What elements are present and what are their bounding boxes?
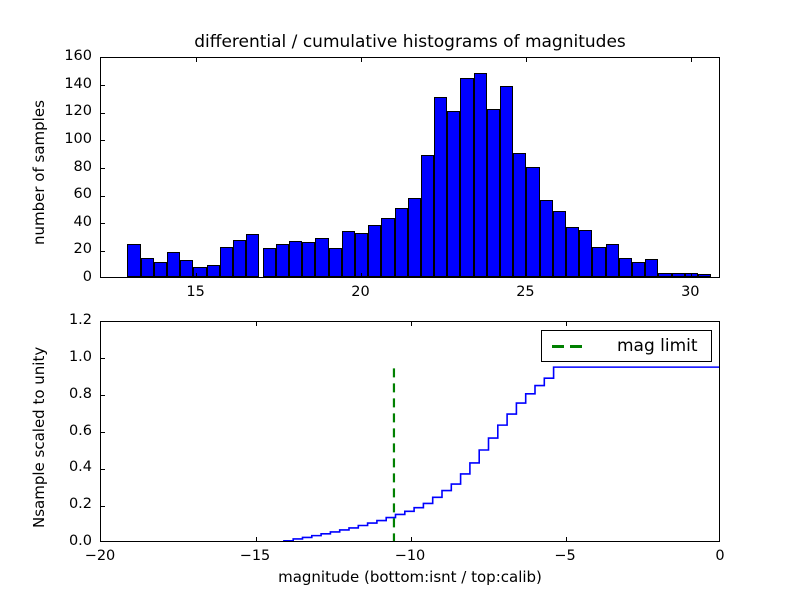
histogram-bar (645, 259, 658, 277)
histogram-bar (180, 260, 193, 277)
histogram-bar (434, 97, 447, 277)
ytick-label: 80 (4, 159, 92, 175)
histogram-bar (246, 234, 259, 277)
cumulative-line (101, 367, 719, 541)
xtick-mark (256, 322, 257, 326)
xtick-mark (411, 537, 412, 541)
xtick-mark (361, 58, 362, 62)
histogram-bar (263, 248, 276, 277)
ytick-label: 0.0 (4, 533, 92, 549)
top-histogram-axes (100, 57, 720, 278)
histogram-bar (167, 252, 180, 277)
histogram-bar (220, 247, 233, 277)
ytick-label: 120 (4, 103, 92, 119)
ytick-mark (101, 358, 105, 359)
histogram-bar (127, 244, 140, 277)
histogram-bar (381, 218, 394, 277)
ytick-label: 0.6 (4, 423, 92, 439)
histogram-bar (276, 244, 289, 277)
ytick-label: 40 (4, 214, 92, 230)
histogram-bar (355, 233, 368, 277)
histogram-bar (553, 211, 566, 277)
histogram-bar (513, 153, 526, 277)
xtick-mark (526, 273, 527, 277)
histogram-bar (487, 109, 500, 278)
histogram-bar (540, 200, 553, 277)
ytick-mark (101, 113, 105, 114)
xtick-mark (256, 537, 257, 541)
ytick-label: 20 (4, 241, 92, 257)
ytick-mark (101, 168, 105, 169)
xtick-mark (566, 322, 567, 326)
ytick-label: 0.4 (4, 459, 92, 475)
histogram-plot-area (101, 58, 719, 277)
histogram-bar (579, 230, 592, 277)
histogram-bar (592, 247, 605, 277)
histogram-bar (632, 262, 645, 277)
figure-canvas: differential / cumulative histograms of … (0, 0, 800, 600)
histogram-bar (302, 242, 315, 277)
histogram-bar (207, 265, 220, 277)
xtick-mark (691, 58, 692, 62)
ytick-mark (101, 432, 105, 433)
histogram-bar (421, 155, 434, 277)
histogram-bar (566, 227, 579, 277)
ytick-mark (101, 395, 105, 396)
xtick-label: 15 (156, 284, 236, 300)
histogram-bar (606, 244, 619, 277)
histogram-bar (329, 248, 342, 277)
figure-xlabel: magnitude (bottom:isnt / top:calib) (100, 568, 720, 586)
xtick-mark (196, 58, 197, 62)
histogram-bar (447, 111, 460, 277)
ytick-mark (101, 223, 105, 224)
xtick-mark (411, 322, 412, 326)
ytick-mark (101, 140, 105, 141)
ytick-mark (101, 469, 105, 470)
histogram-bar (658, 273, 671, 277)
xtick-label: 0 (680, 548, 760, 564)
histogram-bar (342, 231, 355, 277)
histogram-bar (698, 274, 711, 277)
xtick-label: −10 (370, 548, 450, 564)
histogram-bar (233, 240, 246, 277)
histogram-bar (289, 241, 302, 277)
histogram-bar (672, 273, 685, 277)
xtick-label: 30 (650, 284, 730, 300)
xtick-mark (196, 273, 197, 277)
histogram-bar (408, 198, 421, 277)
histogram-bar (395, 208, 408, 277)
ytick-mark (101, 506, 105, 507)
xtick-label: −5 (525, 548, 605, 564)
xtick-mark (526, 58, 527, 62)
mag-limit-dashed-line-icon (551, 339, 591, 353)
histogram-bar (460, 78, 473, 277)
legend-label-mag-limit: mag limit (617, 336, 702, 356)
xtick-mark (361, 273, 362, 277)
histogram-bar (141, 258, 154, 277)
legend: mag limit (541, 330, 712, 362)
ytick-label: 0 (4, 269, 92, 285)
ytick-label: 1.0 (4, 349, 92, 365)
histogram-bar (315, 238, 328, 277)
ytick-label: 160 (4, 48, 92, 64)
histogram-bar (500, 86, 513, 277)
histogram-bar (619, 258, 632, 277)
ytick-mark (101, 196, 105, 197)
histogram-bar (154, 262, 167, 277)
xtick-label: −15 (215, 548, 295, 564)
xtick-label: −20 (60, 548, 140, 564)
histogram-bar (368, 225, 381, 277)
ytick-label: 100 (4, 131, 92, 147)
ytick-label: 140 (4, 76, 92, 92)
ytick-mark (101, 85, 105, 86)
histogram-bar (474, 73, 487, 277)
figure-title: differential / cumulative histograms of … (100, 32, 720, 52)
histogram-bar (526, 167, 539, 278)
xtick-mark (691, 273, 692, 277)
ytick-mark (101, 251, 105, 252)
ytick-label: 60 (4, 186, 92, 202)
xtick-label: 20 (321, 284, 401, 300)
xtick-mark (566, 537, 567, 541)
ytick-label: 0.2 (4, 496, 92, 512)
ytick-label: 0.8 (4, 386, 92, 402)
ytick-label: 1.2 (4, 312, 92, 328)
xtick-label: 25 (485, 284, 565, 300)
